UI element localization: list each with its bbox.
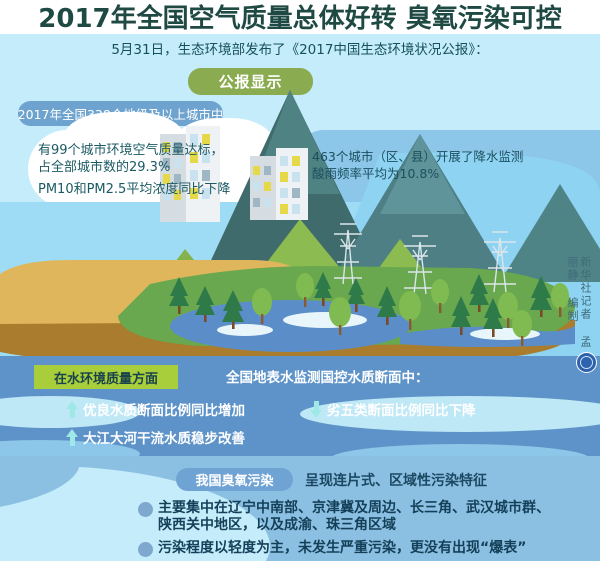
title-bar: 2017年全国空气质量总体好转 臭氧污染可控 [0,0,600,34]
ozone-bullet-row: 主要集中在辽宁中南部、京津冀及周边、长三角、武汉城市群、 陕西关中地区，以及成渝… [138,500,550,534]
bullet-dot-icon [138,502,153,517]
rain-line-1: 463个城市（区、县）开展了降水监测 [312,148,592,165]
xinhua-logo-icon [576,352,597,373]
ozone-section: 我国臭氧污染 呈现连片式、区域性污染特征 主要集中在辽宁中南部、京津冀及周边、长… [0,456,600,561]
wave-shape [330,444,590,456]
ozone-bullet-label: 污染程度以轻度为主，未发生严重污染，更没有出现“爆表” [158,540,526,557]
cloud-line-3: PM10和PM2.5平均浓度同比下降 [38,181,288,198]
water-row: 劣五类断面比例同比下降 [310,399,476,419]
page-title: 2017年全国空气质量总体好转 臭氧污染可控 [0,0,600,33]
water-row-label: 大江大河干流水质稳步改善 [83,427,245,447]
water-heading: 全国地表水监测国控水质断面中： [226,366,429,386]
bullet-dot-icon [138,542,153,557]
cloud-bubble-text: 有99个城市环境空气质量达标， 占全部城市数的29.3% PM10和PM2.5平… [38,142,288,198]
water-row-label: 优良水质断面比例同比增加 [83,399,245,419]
water-row-label: 劣五类断面比例同比下降 [327,399,476,419]
rain-monitoring-text: 463个城市（区、县）开展了降水监测 酸雨频率平均为10.8% [312,148,592,182]
logo-inner-ring [580,356,593,369]
ozone-heading: 呈现连片式、区域性污染特征 [305,470,487,490]
water-row: 大江大河干流水质稳步改善 [66,427,245,447]
ozone-bullet-label: 主要集中在辽宁中南部、京津冀及周边、长三角、武汉城市群、 陕西关中地区，以及成渝… [158,500,550,534]
infographic-page: 2017年全国空气质量总体好转 臭氧污染可控 5月31日，生态环境部发布了《20… [0,0,600,561]
ozone-bullet-row: 污染程度以轻度为主，未发生严重污染，更没有出现“爆表” [138,540,526,557]
cloud-line-2: 占全部城市数的29.3% [38,159,288,176]
water-row: 优良水质断面比例同比增加 [66,399,245,419]
badge-ozone-pollution: 我国臭氧污染 [176,468,293,491]
cloud-line-1: 有99个城市环境空气质量达标， [38,142,288,159]
rain-line-2: 酸雨频率平均为10.8% [312,165,592,182]
credit-text: 新华社记者 孟丽静 编制 [566,256,592,356]
water-quality-section: 在水环境质量方面 全国地表水监测国控水质断面中： 优良水质断面比例同比增加 劣五… [0,356,600,456]
badge-water-env: 在水环境质量方面 [34,365,178,389]
arrow-up-icon [66,429,79,446]
air-quality-section: 5月31日，生态环境部发布了《2017中国生态环境状况公报》： 公报显示 201… [0,34,600,356]
arrow-down-icon [310,401,323,418]
arrow-up-icon [66,401,79,418]
